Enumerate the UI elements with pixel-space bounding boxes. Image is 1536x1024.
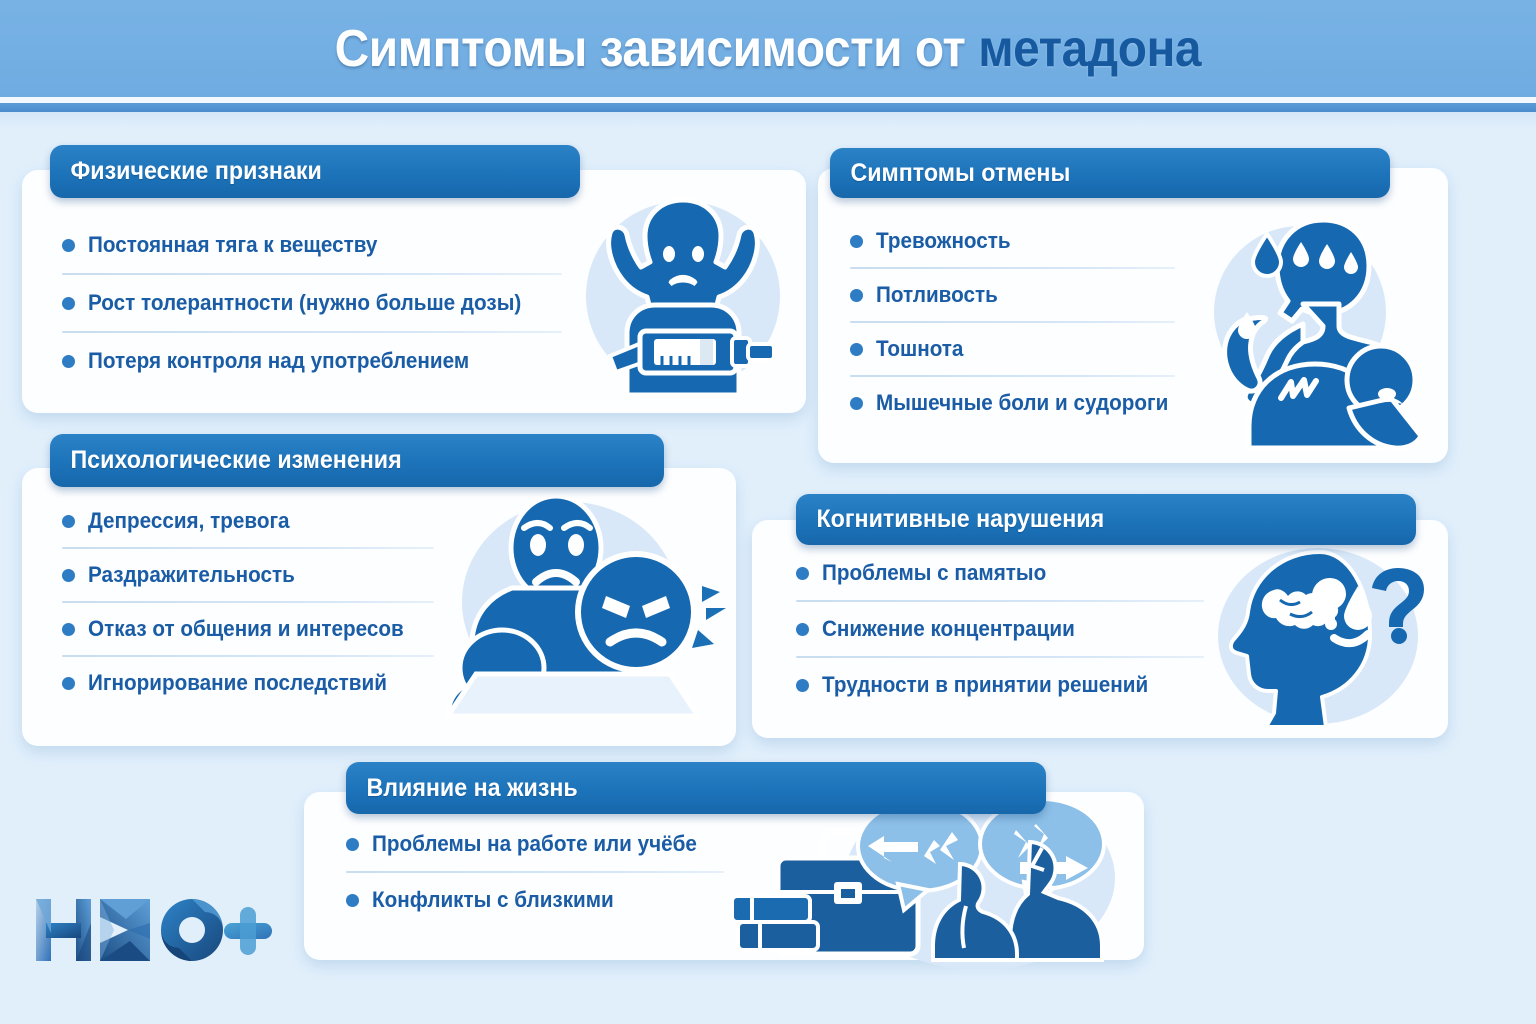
list-item[interactable]: Трудности в принятии решений (796, 669, 1216, 701)
card-withdrawal-symptoms-header[interactable]: Симптомы отмены (830, 148, 1390, 198)
bullet-icon (62, 239, 75, 252)
list-divider (796, 600, 1204, 602)
list-item[interactable]: Рост толерантности (нужно больше дозы) (62, 286, 562, 320)
bullet-icon (796, 623, 809, 636)
list-divider (62, 655, 434, 657)
bullet-icon (62, 623, 75, 636)
list-item[interactable]: Снижение концентрации (796, 613, 1216, 645)
page-title: Симптомы зависимости от метадона (335, 19, 1201, 79)
list-divider (850, 375, 1175, 377)
header-fade (0, 112, 1536, 128)
card-cognitive-impairment-header[interactable]: Когнитивные нарушения (796, 494, 1416, 545)
list-item[interactable]: Депрессия, тревога (62, 505, 462, 537)
list-item[interactable]: Проблемы с памятыо (796, 557, 1216, 589)
list-divider (796, 656, 1204, 658)
list-item-label: Тошнота (876, 336, 963, 362)
list-item-label: Конфликты с близкими (372, 887, 614, 913)
card-cognitive-impairment-title: Когнитивные нарушения (796, 505, 1125, 534)
bullet-icon (62, 569, 75, 582)
card-withdrawal-symptoms-title: Симптомы отмены (830, 159, 1091, 188)
list-item-label: Депрессия, тревога (88, 508, 290, 534)
list-divider (62, 547, 434, 549)
list-item-label: Постоянная тяга к веществу (88, 232, 377, 258)
page-title-accent: метадона (978, 20, 1201, 78)
list-item[interactable]: Отказ от общения и интересов (62, 613, 462, 645)
page-header: Симптомы зависимости от метадона (0, 0, 1536, 97)
list-item[interactable]: Конфликты с близкими (346, 884, 746, 916)
bullet-icon (850, 235, 863, 248)
list-item-label: Проблемы с памятыо (822, 560, 1046, 586)
bullet-icon (850, 397, 863, 410)
list-divider (850, 321, 1175, 323)
list-item-label: Игнорирование последствий (88, 670, 387, 696)
bullet-icon (850, 343, 863, 356)
stressed-person-with-syringe-icon (572, 192, 794, 397)
list-item[interactable]: Тревожность (850, 225, 1205, 257)
card-psychological-changes-title: Психологические изменения (50, 446, 422, 475)
card-physical-signs-header[interactable]: Физические признаки (50, 145, 580, 198)
list-item-label: Отказ от общения и интересов (88, 616, 404, 642)
neo-plus-logo[interactable] (34, 893, 264, 971)
bullet-icon (62, 297, 75, 310)
bullet-icon (346, 838, 359, 851)
list-item-label: Потеря контроля над употреблением (88, 348, 469, 374)
list-item-label: Тревожность (876, 228, 1011, 254)
list-item[interactable]: Игнорирование последствий (62, 667, 462, 699)
bullet-icon (850, 289, 863, 302)
sweating-and-cramping-person-icon (1195, 212, 1440, 452)
card-life-impact-header[interactable]: Влияние на жизнь (346, 762, 1046, 814)
card-withdrawal-symptoms-list: Тревожность Потливость Тошнота Мышечные … (850, 225, 1205, 419)
list-item-label: Снижение концентрации (822, 616, 1075, 642)
bullet-icon (62, 677, 75, 690)
page-title-main: Симптомы зависимости от (335, 20, 979, 78)
bullet-icon (796, 679, 809, 692)
head-with-brain-and-question-marks-icon (1212, 542, 1440, 730)
list-item-label: Рост толерантности (нужно больше дозы) (88, 290, 521, 316)
bullet-icon (62, 355, 75, 368)
list-item[interactable]: Потливость (850, 279, 1205, 311)
card-psychological-changes-list: Депрессия, тревога Раздражительность Отк… (62, 505, 462, 699)
list-item[interactable]: Проблемы на работе или учёбе (346, 828, 746, 860)
list-item[interactable]: Потеря контроля над употреблением (62, 344, 562, 378)
card-life-impact-list: Проблемы на работе или учёбе Конфликты с… (346, 828, 746, 916)
list-item[interactable]: Постоянная тяга к веществу (62, 228, 562, 262)
card-psychological-changes-header[interactable]: Психологические изменения (50, 434, 664, 487)
card-cognitive-impairment-list: Проблемы с памятыо Снижение концентрации… (796, 557, 1216, 701)
list-divider (850, 267, 1175, 269)
card-physical-signs-title: Физические признаки (50, 157, 342, 186)
sad-and-angry-faces-icon (440, 490, 725, 722)
bullet-icon (62, 515, 75, 528)
card-physical-signs-list: Постоянная тяга к веществу Рост толерант… (62, 228, 562, 378)
list-divider (62, 601, 434, 603)
bullet-icon (796, 567, 809, 580)
list-item-label: Трудности в принятии решений (822, 672, 1148, 698)
list-divider (346, 871, 724, 873)
list-item[interactable]: Раздражительность (62, 559, 462, 591)
list-divider (62, 331, 562, 333)
card-life-impact-title: Влияние на жизнь (346, 774, 598, 803)
list-item[interactable]: Мышечные боли и судороги (850, 387, 1205, 419)
bullet-icon (346, 894, 359, 907)
list-item-label: Раздражительность (88, 562, 295, 588)
header-divider-blue (0, 103, 1536, 112)
list-divider (62, 273, 562, 275)
list-item[interactable]: Тошнота (850, 333, 1205, 365)
list-item-label: Проблемы на работе или учёбе (372, 831, 697, 857)
list-item-label: Мышечные боли и судороги (876, 390, 1168, 416)
list-item-label: Потливость (876, 282, 998, 308)
